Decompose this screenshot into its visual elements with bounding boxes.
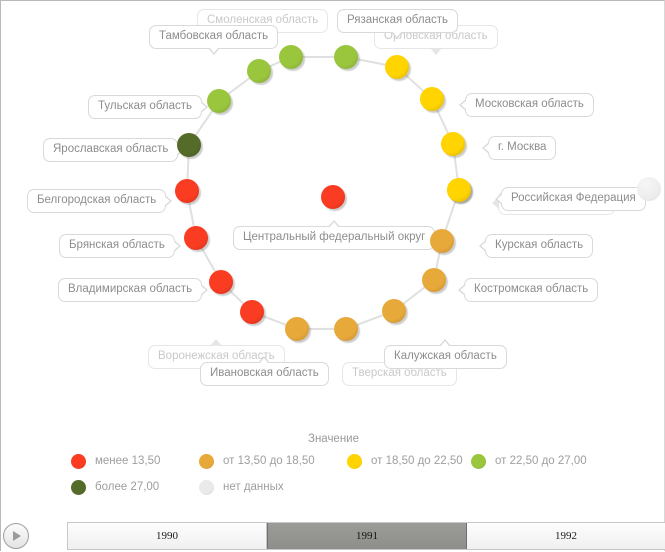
year-cell-1990[interactable]: 1990 bbox=[68, 523, 267, 549]
play-button[interactable] bbox=[3, 523, 29, 549]
legend-item-ot_13_50_do_18_50[interactable]: от 13,50 до 18,50 bbox=[199, 451, 315, 471]
node-ball bbox=[285, 317, 309, 341]
legend-label: нет данных bbox=[223, 481, 284, 493]
legend-label: менее 13,50 bbox=[95, 455, 160, 467]
callout-label: Российская Федерация bbox=[511, 192, 636, 204]
callout-14[interactable]: Костромская область bbox=[464, 278, 598, 302]
callout-label: Ярославская область bbox=[53, 143, 168, 155]
node-ball bbox=[430, 229, 454, 253]
legend: Значение менее 13,50от 13,50 до 18,50от … bbox=[1, 429, 665, 514]
callout-tail-fill-icon bbox=[431, 47, 441, 53]
callout-tail-fill-icon bbox=[211, 341, 221, 347]
radial-chart-canvas[interactable]: Смоленская областьРязанская областьТамбо… bbox=[1, 1, 665, 426]
callout-8[interactable]: Белгородская область bbox=[27, 189, 166, 213]
callout-12[interactable]: Курская область bbox=[485, 234, 593, 258]
callout-tail-fill-icon bbox=[173, 241, 179, 251]
node-ball bbox=[385, 55, 409, 79]
callout-tail-fill-icon bbox=[440, 341, 450, 347]
year-cell-1991[interactable]: 1991 bbox=[267, 523, 467, 549]
legend-item-net_dannyh[interactable]: нет данных bbox=[199, 477, 284, 497]
legend-item-bolee_27_00[interactable]: более 27,00 bbox=[71, 477, 159, 497]
legend-label: от 18,50 до 22,50 bbox=[371, 455, 463, 467]
data-node[interactable] bbox=[334, 317, 358, 341]
callout-9[interactable]: Российская Федерация bbox=[501, 187, 646, 211]
callout-label: Костромская область bbox=[474, 283, 588, 295]
legend-swatch-ot_18_50_do_22_50 bbox=[347, 454, 362, 469]
data-node[interactable] bbox=[285, 317, 309, 341]
callout-central-federal-district[interactable]: Центральный федеральный округ bbox=[233, 226, 435, 250]
node-ball bbox=[382, 299, 406, 323]
legend-item-ot_18_50_do_22_50[interactable]: от 18,50 до 22,50 bbox=[347, 451, 463, 471]
callout-17[interactable]: Ивановская область bbox=[200, 362, 329, 386]
node-ball bbox=[334, 317, 358, 341]
callout-label: Рязанская область bbox=[347, 14, 448, 26]
legend-label: от 13,50 до 18,50 bbox=[223, 455, 315, 467]
callout-tail-fill-icon bbox=[329, 222, 339, 228]
data-node[interactable] bbox=[447, 178, 471, 202]
year-cell-1992[interactable]: 1992 bbox=[467, 523, 665, 549]
callout-label: Московская область bbox=[475, 98, 584, 110]
callout-11[interactable]: Брянская область bbox=[59, 234, 175, 258]
callout-tail-fill-icon bbox=[481, 241, 487, 251]
year-label: 1992 bbox=[555, 530, 577, 542]
center-node[interactable] bbox=[321, 185, 345, 209]
node-ball bbox=[422, 268, 446, 292]
node-ball bbox=[441, 132, 465, 156]
callout-label: Тамбовская область bbox=[159, 30, 268, 42]
timeline-control[interactable]: 199019911992 bbox=[1, 520, 665, 552]
data-node[interactable] bbox=[420, 87, 444, 111]
node-ball bbox=[334, 45, 358, 69]
legend-label: более 27,00 bbox=[95, 481, 159, 493]
play-icon bbox=[13, 531, 21, 541]
callout-16[interactable]: Калужская область bbox=[384, 345, 507, 369]
year-selector[interactable]: 199019911992 bbox=[67, 522, 665, 550]
callout-label: Ивановская область bbox=[210, 367, 319, 379]
callout-6[interactable]: Ярославская область bbox=[43, 138, 178, 162]
callout-13[interactable]: Владимирская область bbox=[58, 278, 202, 302]
legend-title: Значение bbox=[1, 433, 665, 445]
data-node[interactable] bbox=[175, 179, 199, 203]
callout-label: Брянская область bbox=[69, 239, 165, 251]
callout-tail-fill-icon bbox=[497, 194, 503, 204]
data-node[interactable] bbox=[184, 226, 208, 250]
node-ball bbox=[175, 179, 199, 203]
callout-4[interactable]: Тульская область bbox=[88, 95, 202, 119]
node-ball bbox=[247, 59, 271, 83]
callout-tail-fill-icon bbox=[259, 358, 269, 364]
year-label: 1991 bbox=[356, 530, 378, 542]
callout-label: Владимирская область bbox=[68, 283, 192, 295]
callout-tail-fill-icon bbox=[164, 196, 170, 206]
node-ball bbox=[184, 226, 208, 250]
legend-label: от 22,50 до 27,00 bbox=[495, 455, 587, 467]
node-ball bbox=[207, 89, 231, 113]
node-ball bbox=[209, 270, 233, 294]
data-node[interactable] bbox=[207, 89, 231, 113]
node-ball bbox=[420, 87, 444, 111]
data-node[interactable] bbox=[247, 59, 271, 83]
callout-2[interactable]: Тамбовская область bbox=[149, 25, 278, 49]
callout-tail-fill-icon bbox=[209, 47, 219, 53]
node-ball bbox=[637, 177, 661, 201]
callout-5[interactable]: Московская область bbox=[465, 93, 594, 117]
data-node[interactable] bbox=[441, 132, 465, 156]
callout-label: Курская область bbox=[495, 239, 583, 251]
callout-7[interactable]: г. Москва bbox=[488, 136, 556, 160]
callout-tail-fill-icon bbox=[200, 285, 206, 295]
data-node[interactable] bbox=[177, 133, 201, 157]
data-node[interactable] bbox=[385, 55, 409, 79]
data-node[interactable] bbox=[430, 229, 454, 253]
callout-label: г. Москва bbox=[498, 141, 546, 153]
callout-tail-fill-icon bbox=[392, 31, 402, 37]
callout-tail-fill-icon bbox=[484, 143, 490, 153]
callout-label: Тульская область bbox=[98, 100, 192, 112]
data-node[interactable] bbox=[279, 45, 303, 69]
callout-1[interactable]: Рязанская область bbox=[337, 9, 458, 33]
legend-swatch-ot_22_50_do_27_00 bbox=[471, 454, 486, 469]
year-label: 1990 bbox=[156, 530, 178, 542]
legend-item-menee_13_50[interactable]: менее 13,50 bbox=[71, 451, 160, 471]
callout-label: Белгородская область bbox=[37, 194, 156, 206]
callout-label: Воронежская область bbox=[158, 350, 275, 362]
legend-item-ot_22_50_do_27_00[interactable]: от 22,50 до 27,00 bbox=[471, 451, 587, 471]
callout-tail-fill-icon bbox=[461, 100, 467, 110]
callout-tail-fill-icon bbox=[460, 285, 466, 295]
chart-window: Смоленская областьРязанская областьТамбо… bbox=[0, 0, 665, 551]
legend-swatch-menee_13_50 bbox=[71, 454, 86, 469]
node-ball bbox=[177, 133, 201, 157]
data-node[interactable] bbox=[209, 270, 233, 294]
callout-label: Центральный федеральный округ bbox=[243, 231, 425, 243]
node-ball bbox=[240, 300, 264, 324]
node-ball bbox=[447, 178, 471, 202]
data-node[interactable] bbox=[637, 177, 661, 201]
legend-swatch-ot_13_50_do_18_50 bbox=[199, 454, 214, 469]
data-node[interactable] bbox=[334, 45, 358, 69]
callout-label: Калужская область bbox=[394, 350, 497, 362]
node-ball bbox=[279, 45, 303, 69]
data-node[interactable] bbox=[382, 299, 406, 323]
center-node-ball bbox=[321, 185, 345, 209]
callout-tail-fill-icon bbox=[200, 102, 206, 112]
legend-swatch-net_dannyh bbox=[199, 480, 214, 495]
legend-swatch-bolee_27_00 bbox=[71, 480, 86, 495]
data-node[interactable] bbox=[422, 268, 446, 292]
data-node[interactable] bbox=[240, 300, 264, 324]
